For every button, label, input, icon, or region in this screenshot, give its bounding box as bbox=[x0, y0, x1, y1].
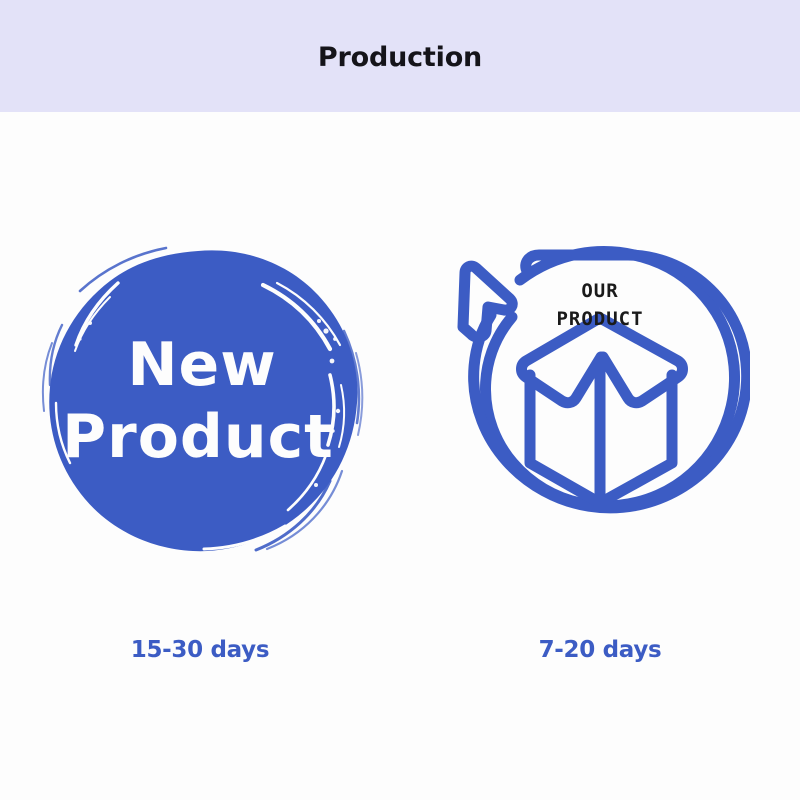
icon-label-line-2: PRODUCT bbox=[556, 308, 643, 330]
our-product-icon-wrap: OUR PRODUCT bbox=[400, 230, 800, 570]
page-title: Production bbox=[318, 44, 482, 71]
new-product-badge-wrap: New Product bbox=[0, 230, 400, 570]
header-bar: Production bbox=[0, 0, 800, 112]
caption-our-product: 7-20 days bbox=[400, 637, 800, 663]
page-root: Production bbox=[0, 0, 800, 800]
new-product-brush-badge: New Product bbox=[30, 235, 370, 565]
our-product-box-refresh-icon: OUR PRODUCT bbox=[450, 235, 750, 565]
badge-line-1: New bbox=[127, 330, 276, 400]
caption-new-product: 15-30 days bbox=[0, 637, 400, 663]
comparison-columns: New Product 15-30 days bbox=[0, 112, 800, 800]
column-our-product: OUR PRODUCT 7-20 days bbox=[400, 112, 800, 800]
column-new-product: New Product 15-30 days bbox=[0, 112, 400, 800]
icon-label-line-1: OUR bbox=[581, 280, 618, 302]
badge-line-2: Product bbox=[62, 402, 334, 472]
